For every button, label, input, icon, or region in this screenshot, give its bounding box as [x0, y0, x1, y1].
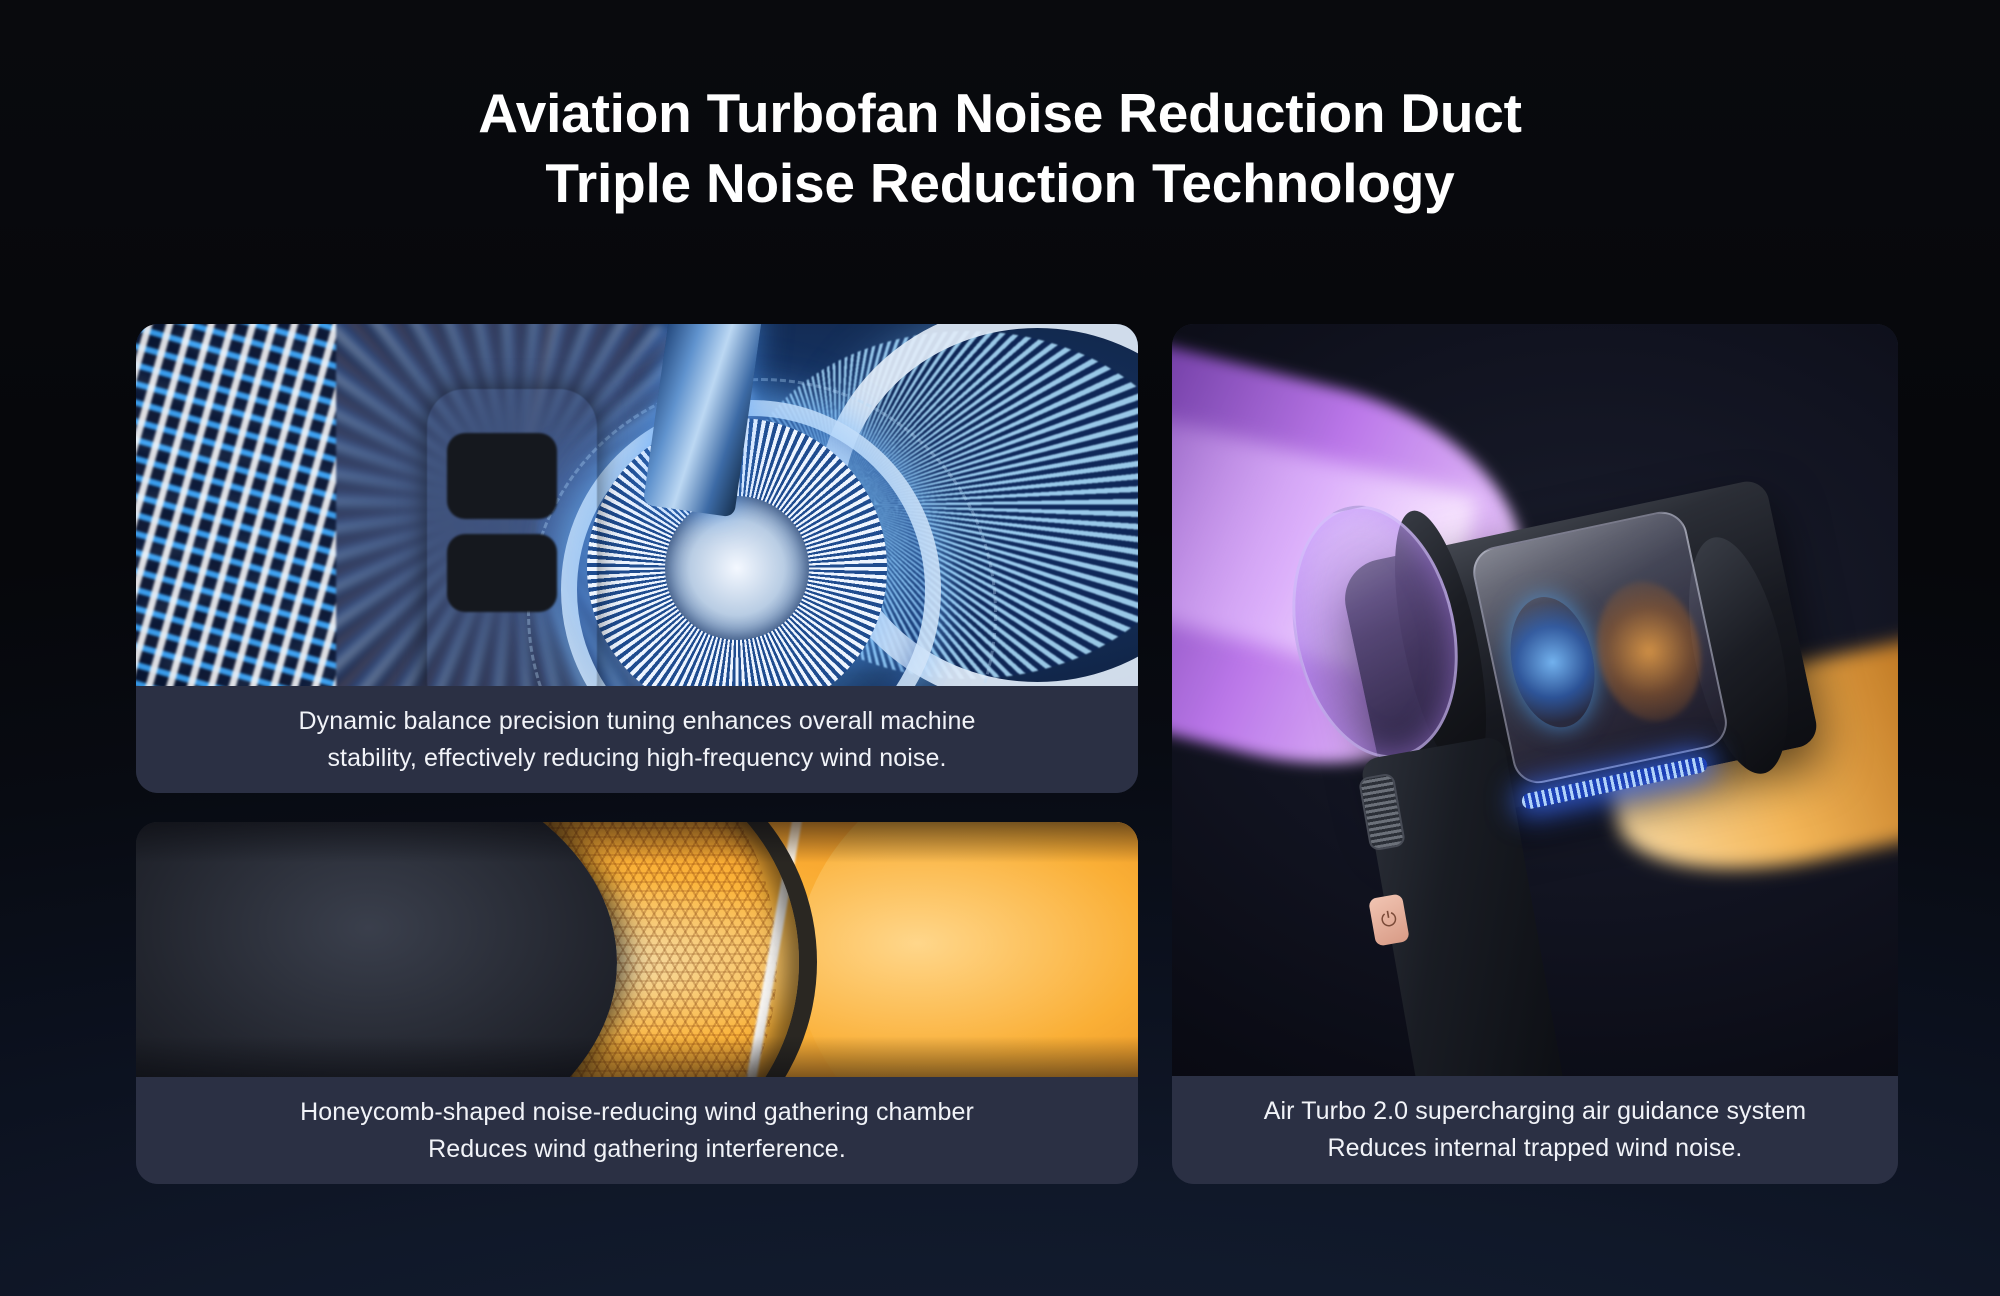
feature-card-turbofan[interactable]: Dynamic balance precision tuning enhance… — [136, 324, 1138, 793]
air-turbo-caption: Air Turbo 2.0 supercharging air guidance… — [1172, 1076, 1898, 1184]
air-turbo-image: ⏻ — [1172, 324, 1898, 1076]
dryer-heating-element — [1584, 571, 1714, 731]
turbofan-image — [136, 324, 1138, 686]
feature-card-grid: Dynamic balance precision tuning enhance… — [136, 324, 1898, 1184]
turbofan-gear-notch-bottom — [447, 534, 557, 612]
honeycomb-dark-shell — [136, 822, 617, 1077]
air-turbo-illustration: ⏻ — [1172, 324, 1898, 1076]
honeycomb-illustration — [136, 822, 1138, 1077]
turbofan-illustration — [136, 324, 1138, 686]
page-title-line-2: Triple Noise Reduction Technology — [0, 148, 2000, 218]
honeycomb-orange-body — [797, 822, 1138, 1077]
left-column: Dynamic balance precision tuning enhance… — [136, 324, 1138, 1184]
feature-card-air-turbo[interactable]: ⏻ Air Turbo 2.0 supercharging air guidan… — [1172, 324, 1898, 1184]
air-turbo-caption-line-2: Reduces internal trapped wind noise. — [1328, 1130, 1743, 1167]
page-title-line-1: Aviation Turbofan Noise Reduction Duct — [0, 78, 2000, 148]
turbofan-caption-line-2: stability, effectively reducing high-fre… — [327, 740, 946, 777]
turbofan-gear-notch-top — [447, 433, 557, 519]
air-turbo-caption-line-1: Air Turbo 2.0 supercharging air guidance… — [1264, 1093, 1806, 1130]
honeycomb-caption: Honeycomb-shaped noise-reducing wind gat… — [136, 1077, 1138, 1184]
honeycomb-image — [136, 822, 1138, 1077]
turbofan-grill-mesh — [136, 324, 336, 686]
page-title: Aviation Turbofan Noise Reduction Duct T… — [0, 78, 2000, 219]
honeycomb-caption-line-1: Honeycomb-shaped noise-reducing wind gat… — [300, 1094, 974, 1131]
feature-card-honeycomb[interactable]: Honeycomb-shaped noise-reducing wind gat… — [136, 822, 1138, 1184]
honeycomb-caption-line-2: Reduces wind gathering interference. — [428, 1131, 846, 1168]
right-column: ⏻ Air Turbo 2.0 supercharging air guidan… — [1172, 324, 1898, 1184]
turbofan-caption: Dynamic balance precision tuning enhance… — [136, 686, 1138, 793]
turbofan-caption-line-1: Dynamic balance precision tuning enhance… — [299, 703, 976, 740]
dryer-motor-coil — [1500, 589, 1607, 735]
